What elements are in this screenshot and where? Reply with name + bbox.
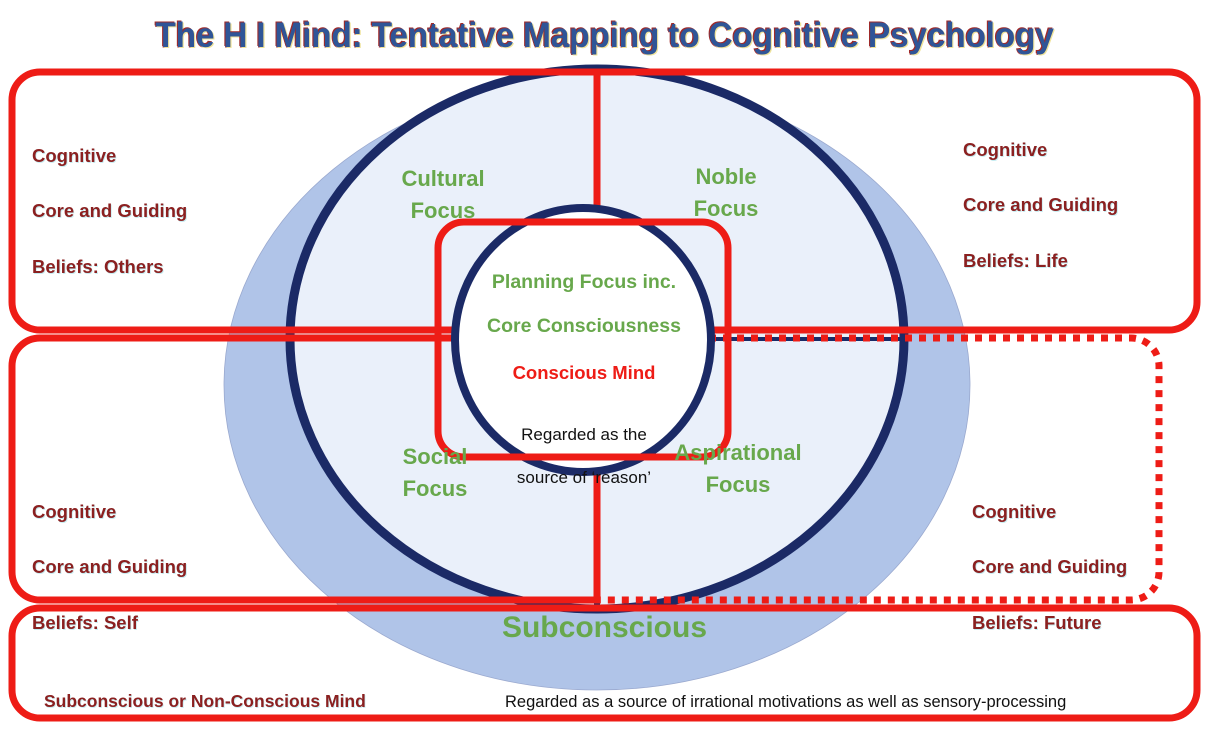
core-text-block: Planning Focus inc. Core Consciousness C… <box>455 252 713 509</box>
beliefs-mid-left-line1: Cognitive <box>32 498 187 526</box>
beliefs-top-right-line2: Core and Guiding <box>963 191 1118 219</box>
core-conscious-mind-label: Conscious Mind <box>455 362 713 384</box>
beliefs-mid-right-line2: Core and Guiding <box>972 553 1127 581</box>
subconscious-label: Subconscious <box>0 611 1209 645</box>
beliefs-mid-right-line1: Cognitive <box>972 498 1127 526</box>
footer-title: Subconscious or Non-Conscious Mind <box>44 691 366 712</box>
beliefs-top-left: Cognitive Core and Guiding Beliefs: Othe… <box>32 114 187 308</box>
beliefs-top-right: Cognitive Core and Guiding Beliefs: Life <box>963 108 1118 302</box>
quadrant-label-cultural-focus: Cultural Focus <box>373 163 513 227</box>
beliefs-top-left-line2: Core and Guiding <box>32 197 187 225</box>
beliefs-top-right-line3: Beliefs: Life <box>963 247 1118 275</box>
core-green-line1: Planning Focus inc. <box>455 270 713 296</box>
beliefs-top-left-line1: Cognitive <box>32 142 187 170</box>
core-note-line2: source of ‘reason’ <box>455 466 713 491</box>
beliefs-mid-left-line2: Core and Guiding <box>32 553 187 581</box>
footer-note: Regarded as a source of irrational motiv… <box>505 693 1066 712</box>
beliefs-top-left-line3: Beliefs: Others <box>32 253 187 281</box>
core-note-line1: Regarded as the <box>455 423 713 448</box>
diagram-canvas: The H I Mind: Tentative Mapping to Cogni… <box>0 0 1209 730</box>
beliefs-top-right-line1: Cognitive <box>963 136 1118 164</box>
quadrant-label-noble-focus: Noble Focus <box>656 161 796 225</box>
core-green-line2: Core Consciousness <box>455 314 713 340</box>
